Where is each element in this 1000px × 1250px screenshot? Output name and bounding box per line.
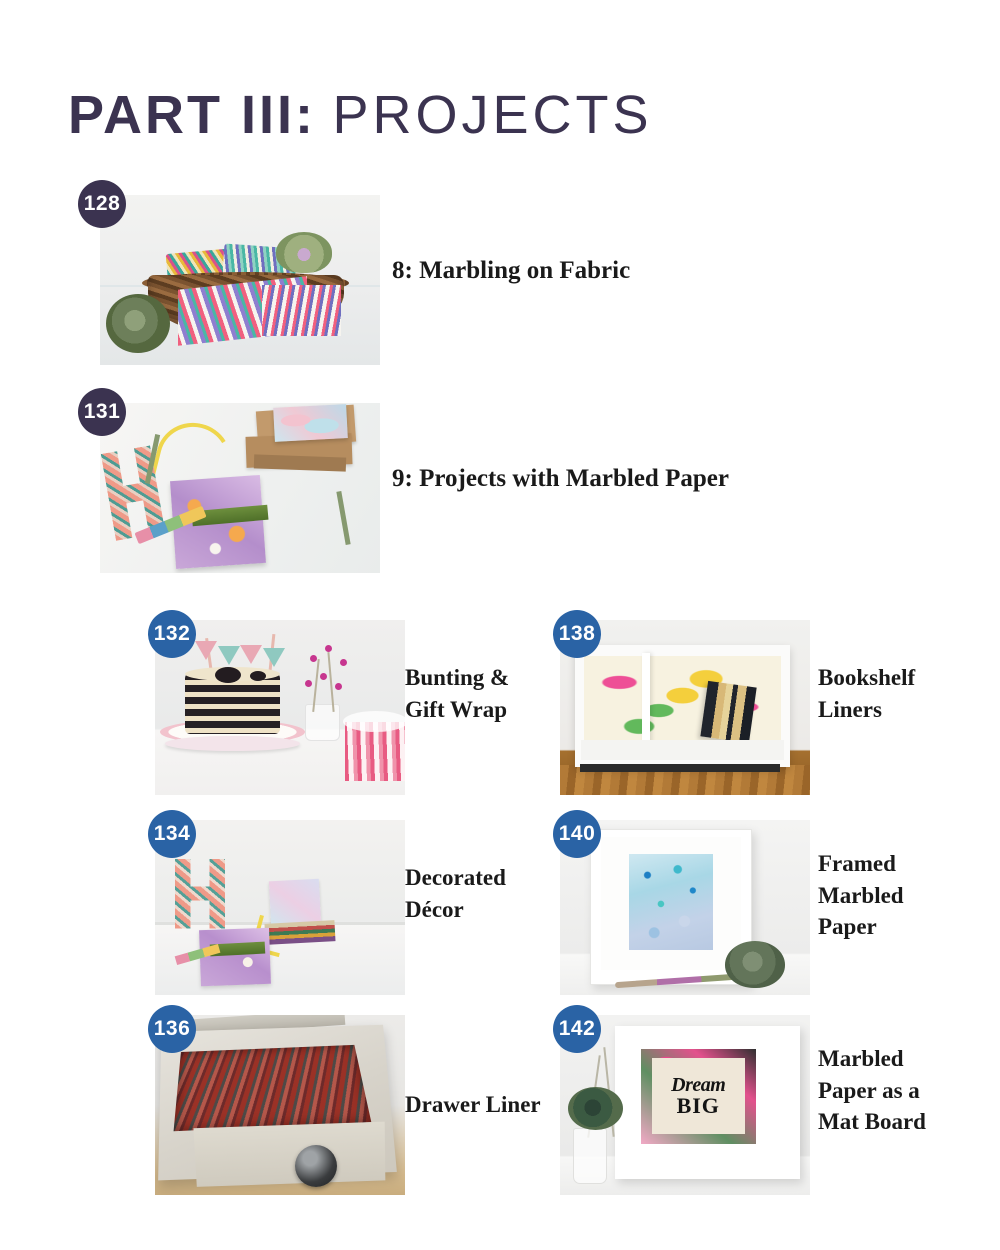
chapter-entry-131[interactable]: 9: Projects with Marbled Paper [100,403,720,573]
chapter-label-131: 9: Projects with Marbled Paper [392,465,729,493]
project-label-138: Bookshelf Liners [818,662,915,725]
project-label-138-line1: Bookshelf [818,662,915,694]
project-label-134-line2: Décor [405,894,506,926]
page-badge-131[interactable]: 131 [78,388,126,436]
project-label-136-line1: Drawer Liner [405,1089,541,1121]
page-badge-140[interactable]: 140 [553,810,601,858]
project-label-134-line1: Decorated [405,862,506,894]
page-badge-140-number: 140 [559,822,596,846]
page-badge-142[interactable]: 142 [553,1005,601,1053]
project-card-138[interactable]: Bookshelf Liners [560,620,960,795]
project-label-140-line1: Framed [818,848,904,880]
page-badge-128[interactable]: 128 [78,180,126,228]
project-label-142: Marbled Paper as a Mat Board [818,1043,926,1138]
dream-big-line1: Dream [671,1075,725,1095]
page-badge-136-number: 136 [154,1017,191,1041]
project-card-136[interactable]: Drawer Liner [155,1015,545,1195]
project-label-142-line3: Mat Board [818,1106,926,1138]
project-card-142[interactable]: Dream BIG Marbled Paper as a Mat Board [560,1015,960,1195]
page-badge-132-number: 132 [154,622,191,646]
chapter-label-128: 8: Marbling on Fabric [392,257,630,285]
page-title-bold: PART III: [68,85,316,145]
page-badge-131-number: 131 [84,400,121,424]
project-label-140-line2: Marbled [818,880,904,912]
page-badge-136[interactable]: 136 [148,1005,196,1053]
chapter-entry-128[interactable]: 8: Marbling on Fabric [100,195,720,365]
project-label-140-line3: Paper [818,911,904,943]
project-label-140: Framed Marbled Paper [818,848,904,943]
page-title: PART III: PROJECTS [68,84,653,146]
page-badge-142-number: 142 [559,1017,596,1041]
project-label-132-line2: Gift Wrap [405,694,509,726]
project-card-132[interactable]: Bunting & Gift Wrap [155,620,545,795]
project-label-136: Drawer Liner [405,1089,541,1121]
dream-big-artwork-text: Dream BIG [671,1075,725,1117]
page-badge-134[interactable]: 134 [148,810,196,858]
open-drawer-with-red-liner-photo [155,1015,405,1195]
project-label-142-line1: Marbled [818,1043,926,1075]
page-badge-134-number: 134 [154,822,191,846]
project-label-132: Bunting & Gift Wrap [405,662,509,725]
project-label-134: Decorated Décor [405,862,506,925]
page-badge-138[interactable]: 138 [553,610,601,658]
page-badge-128-number: 128 [84,192,121,216]
project-label-132-line1: Bunting & [405,662,509,694]
project-card-134[interactable]: Decorated Décor [155,820,545,995]
project-label-138-line2: Liners [818,694,915,726]
dream-big-print-with-marbled-mat-photo: Dream BIG [560,1015,810,1195]
dream-big-line2: BIG [671,1095,725,1117]
marbled-paper-projects-flatlay-photo [100,403,380,573]
page-badge-132[interactable]: 132 [148,610,196,658]
page-title-light: PROJECTS [333,85,653,145]
project-label-142-line2: Paper as a [818,1075,926,1107]
page-badge-138-number: 138 [559,622,596,646]
project-card-140[interactable]: Framed Marbled Paper [560,820,960,995]
marbled-fabric-in-basket-photo [100,195,380,365]
